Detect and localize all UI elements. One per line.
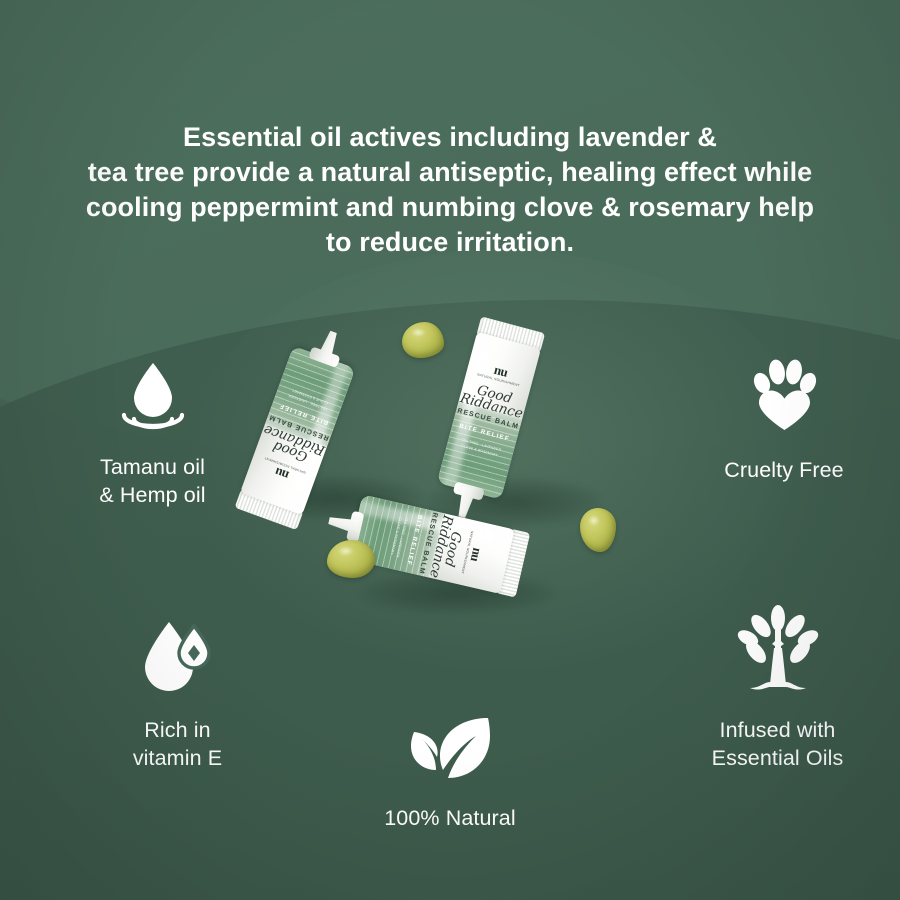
headline-line-3: cooling peppermint and numbing clove & r… <box>50 190 850 225</box>
feature-vitamin-e: Rich in vitamin E <box>55 614 300 772</box>
gel-blob-right <box>580 508 616 552</box>
product-tube-top: nu NATURAL NOURISHMENT Good Riddance RES… <box>437 316 545 499</box>
feature-oils-label-1: Infused with <box>655 716 900 744</box>
droplet-ripple-icon <box>110 355 196 441</box>
feature-tamanu-label-1: Tamanu oil <box>30 453 275 481</box>
marketing-image: Essential oil actives including lavender… <box>0 0 900 900</box>
headline-line-1: Essential oil actives including lavender… <box>50 120 850 155</box>
feature-vitamin-label-2: vitamin E <box>55 744 300 772</box>
feature-oils-label-2: Essential Oils <box>655 744 900 772</box>
tube-body: nu NATURAL NOURISHMENT Good Riddance RES… <box>437 332 541 500</box>
gel-blob-bottom <box>327 540 375 578</box>
headline: Essential oil actives including lavender… <box>50 120 850 260</box>
product-photo: nu NATURAL NOURISHMENT Good Riddance RES… <box>230 300 670 630</box>
feature-essential-oils: Infused with Essential Oils <box>655 604 900 772</box>
double-droplet-icon <box>135 614 221 704</box>
feature-tamanu-label-2: & Hemp oil <box>30 481 275 509</box>
feature-natural-label: 100% Natural <box>330 804 570 832</box>
headline-line-4: to reduce irritation. <box>50 225 850 260</box>
feature-100-natural: 100% Natural <box>330 712 570 832</box>
feature-tamanu-oil: Tamanu oil & Hemp oil <box>30 355 275 509</box>
paw-heart-icon <box>738 352 830 444</box>
feature-cruelty-label: Cruelty Free <box>668 456 900 484</box>
gel-blob-top <box>402 322 444 358</box>
feature-cruelty-free: Cruelty Free <box>668 352 900 484</box>
headline-line-2: tea tree provide a natural antiseptic, h… <box>50 155 850 190</box>
feature-vitamin-label-1: Rich in <box>55 716 300 744</box>
tree-icon <box>728 604 828 704</box>
leaves-icon <box>402 712 498 792</box>
